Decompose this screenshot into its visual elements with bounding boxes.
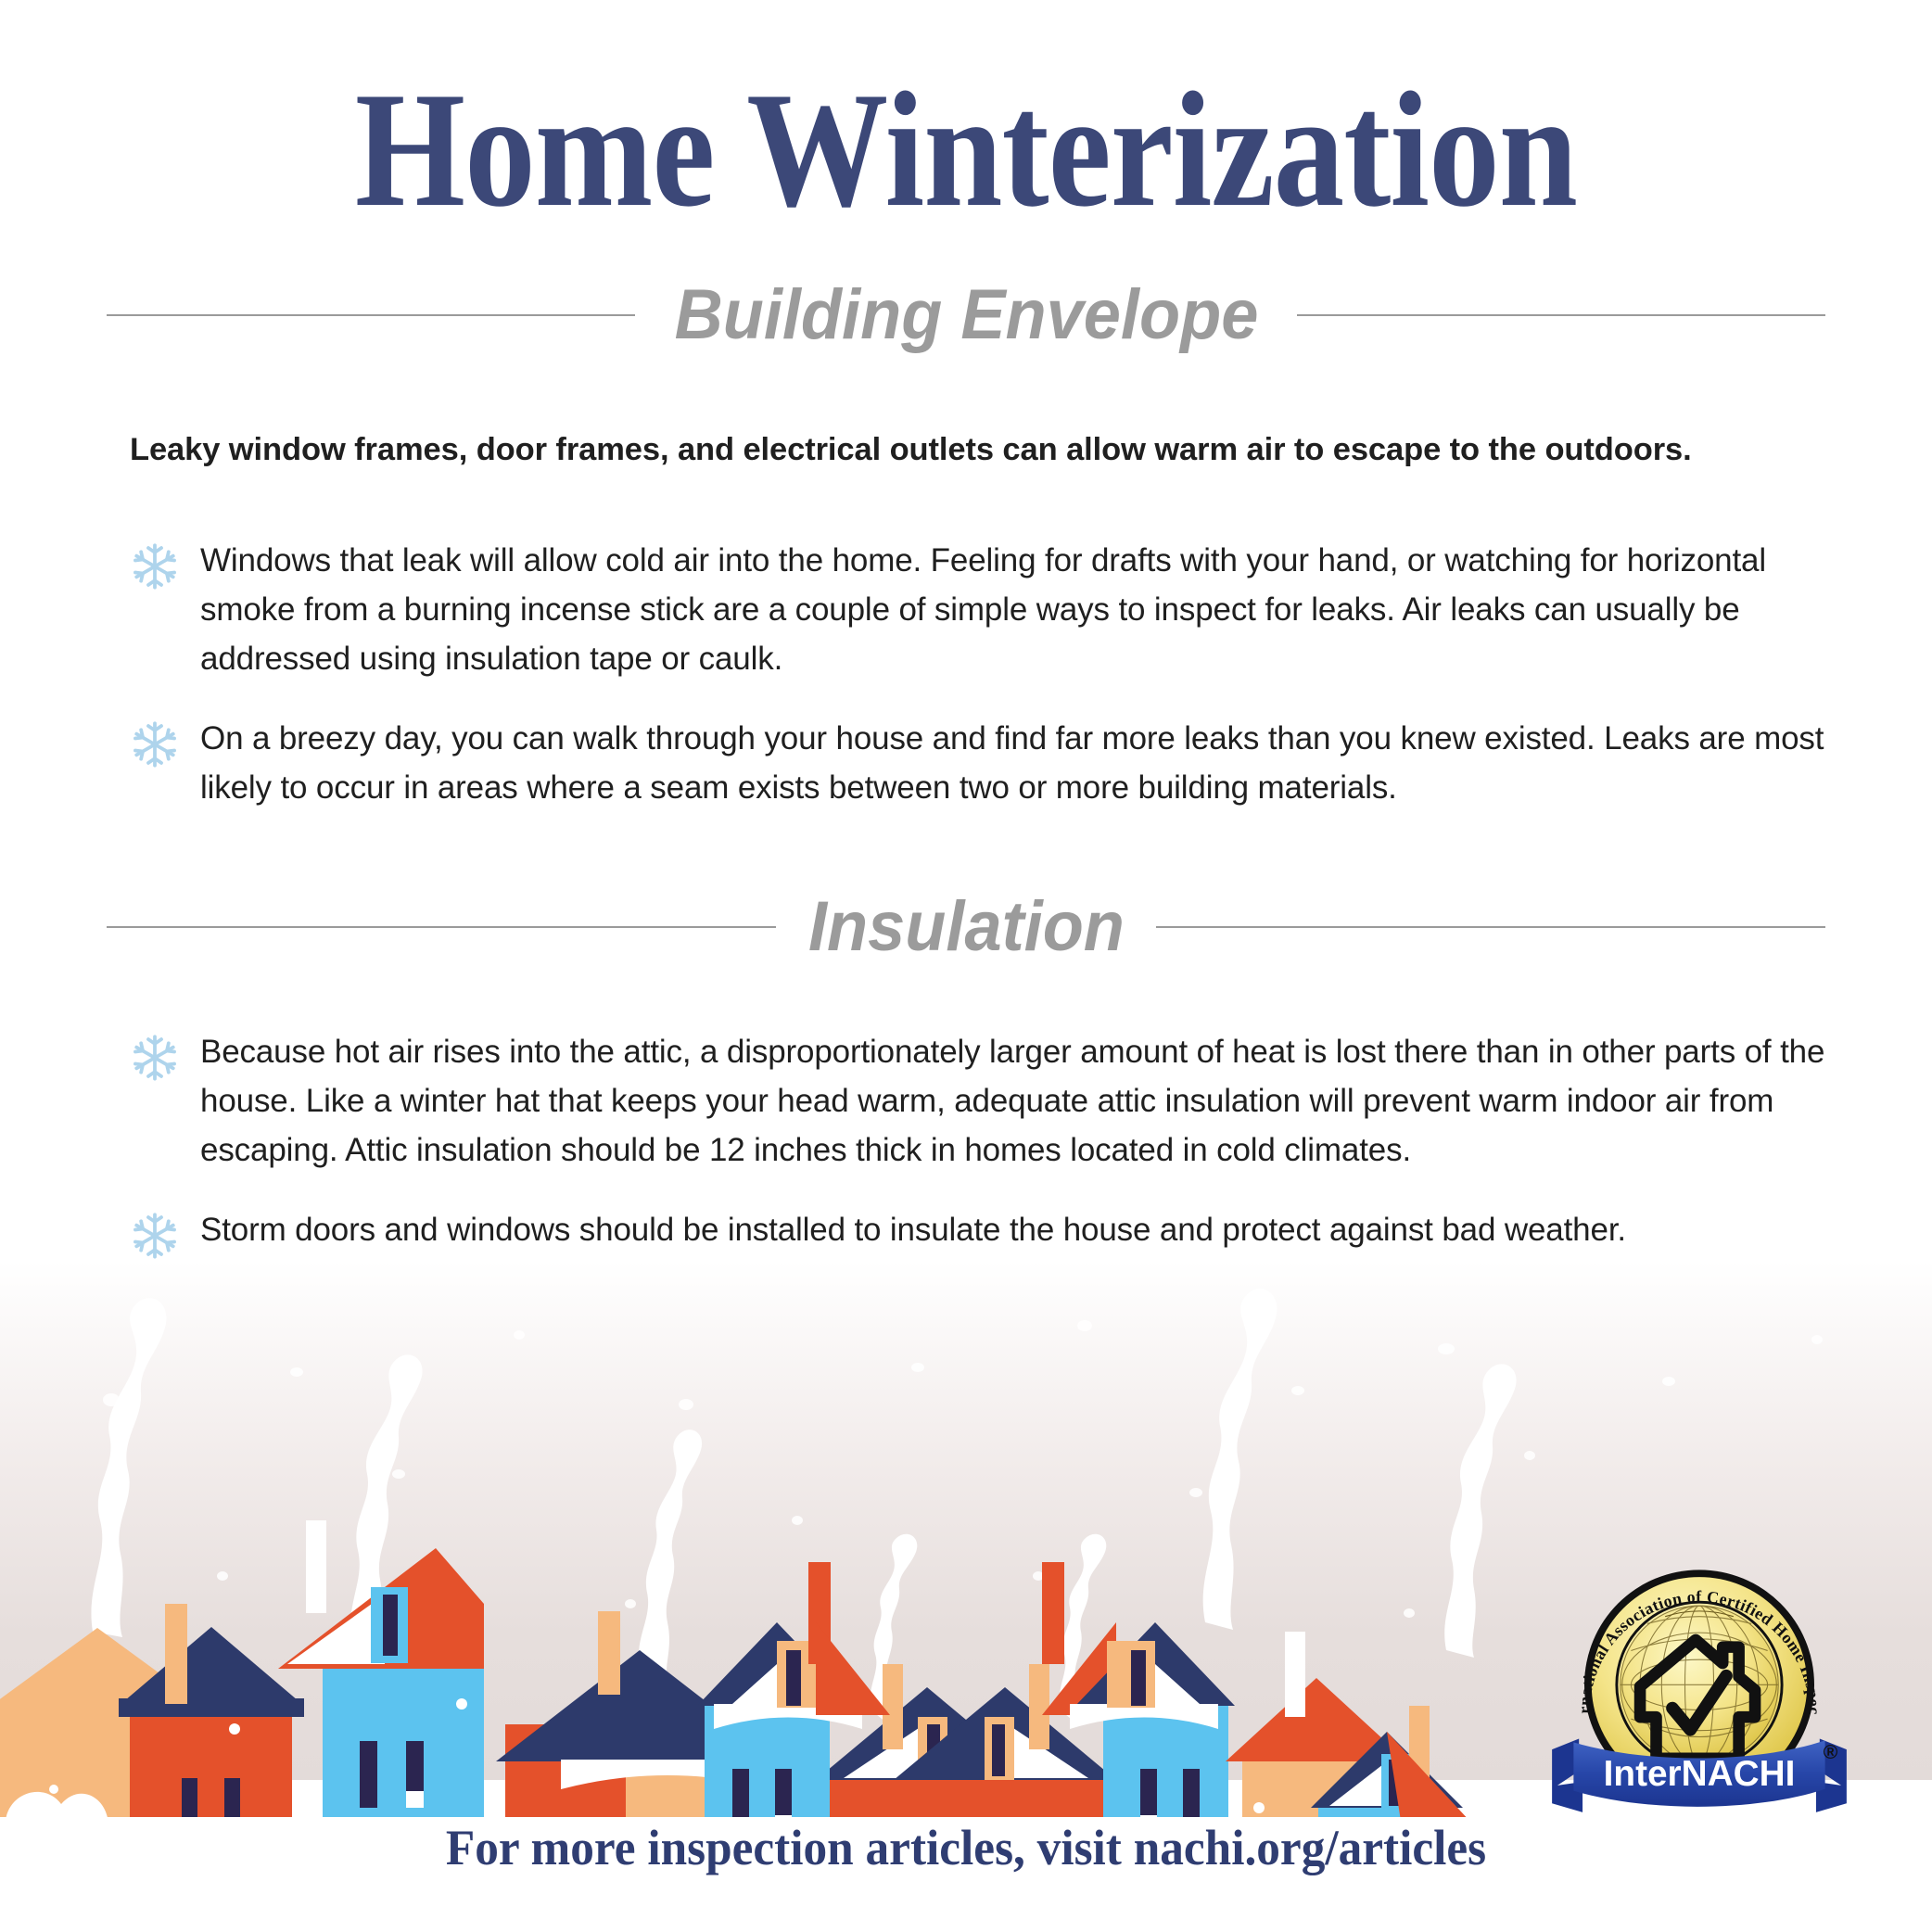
infographic-page: Home Winterization Building Envelope Lea… <box>0 0 1932 1932</box>
internachi-seal-icon: International Association of Certified H… <box>1546 1550 1852 1837</box>
footer-link-text[interactable]: For more inspection articles, visit nach… <box>48 1819 1884 1876</box>
snowflake-icon <box>130 719 180 769</box>
logo-banner-text: InterNACHI <box>1604 1754 1796 1794</box>
divider-rule-right <box>1297 314 1825 316</box>
list-item-text: Windows that leak will allow cold air in… <box>200 536 1826 684</box>
divider-rule-left <box>107 314 635 316</box>
snowflake-icon <box>130 1033 180 1083</box>
list-item-text: Because hot air rises into the attic, a … <box>200 1027 1826 1176</box>
section-title-text: Building Envelope <box>674 278 1258 352</box>
logo-registered-mark: ® <box>1824 1741 1838 1763</box>
section-header-insulation: Insulation <box>107 890 1825 964</box>
snowflake-icon <box>130 541 180 591</box>
list-item: Windows that leak will allow cold air in… <box>130 536 1826 684</box>
section-title-text: Insulation <box>808 890 1125 964</box>
divider-rule-right <box>1156 926 1825 928</box>
page-title: Home Winterization <box>135 67 1797 232</box>
intro-paragraph: Leaky window frames, door frames, and el… <box>130 428 1826 472</box>
section-header-building-envelope: Building Envelope <box>107 278 1825 352</box>
list-item-text: On a breezy day, you can walk through yo… <box>200 714 1826 812</box>
divider-rule-left <box>107 926 776 928</box>
list-item: Because hot air rises into the attic, a … <box>130 1027 1826 1176</box>
list-item: On a breezy day, you can walk through yo… <box>130 714 1826 812</box>
